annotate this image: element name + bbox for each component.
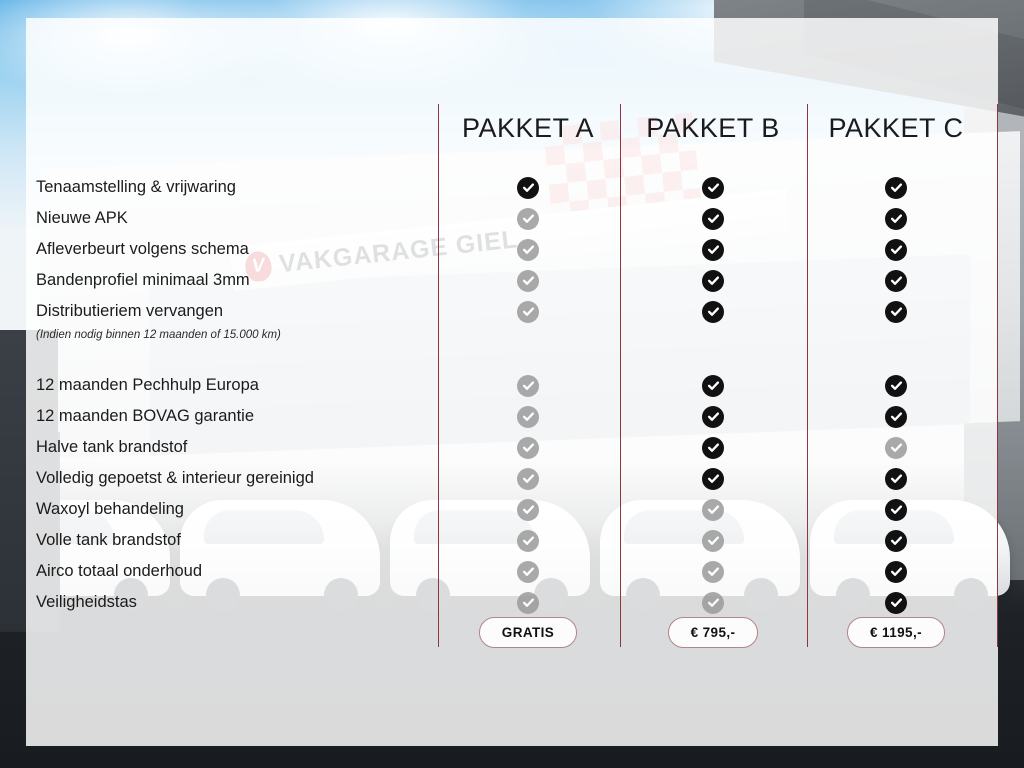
check-cell	[803, 432, 989, 463]
check-cell	[620, 265, 806, 296]
check-included-icon	[885, 208, 907, 230]
check-cell	[435, 587, 621, 618]
check-cell	[803, 234, 989, 265]
check-cell	[435, 370, 621, 401]
check-cell	[803, 494, 989, 525]
feature-group-gap	[36, 343, 436, 370]
check-cell	[620, 587, 806, 618]
check-included-icon	[517, 177, 539, 199]
check-cell	[435, 525, 621, 556]
check-cell	[435, 203, 621, 234]
feature-label: Afleverbeurt volgens schema	[36, 234, 436, 265]
feature-label: 12 maanden BOVAG garantie	[36, 401, 436, 432]
check-cell	[803, 265, 989, 296]
check-cell	[803, 401, 989, 432]
check-included-icon	[702, 406, 724, 428]
check-cell	[435, 463, 621, 494]
feature-label: Veiligheidstas	[36, 587, 436, 618]
check-cell	[435, 234, 621, 265]
check-included-icon	[702, 301, 724, 323]
check-cell	[620, 525, 806, 556]
check-cell	[620, 432, 806, 463]
check-column-c	[803, 172, 989, 618]
price-cell-a: GRATIS	[435, 617, 621, 648]
check-cell	[435, 296, 621, 327]
price-badge-a[interactable]: GRATIS	[479, 617, 577, 648]
check-excluded-icon	[702, 499, 724, 521]
check-included-icon	[885, 301, 907, 323]
check-excluded-icon	[517, 468, 539, 490]
check-included-icon	[702, 270, 724, 292]
check-cell	[803, 525, 989, 556]
feature-label: Distributieriem vervangen	[36, 296, 436, 327]
feature-label: Bandenprofiel minimaal 3mm	[36, 265, 436, 296]
check-included-icon	[885, 530, 907, 552]
feature-label: Waxoyl behandeling	[36, 494, 436, 525]
check-excluded-icon	[517, 406, 539, 428]
check-cell	[803, 296, 989, 327]
price-cell-b: € 795,-	[620, 617, 806, 648]
feature-label: Volle tank brandstof	[36, 525, 436, 556]
check-cell	[620, 463, 806, 494]
check-included-icon	[885, 270, 907, 292]
check-group-gap	[620, 343, 806, 370]
check-cell	[803, 172, 989, 203]
check-cell	[803, 463, 989, 494]
check-included-icon	[702, 437, 724, 459]
check-included-icon	[885, 239, 907, 261]
check-cell	[620, 234, 806, 265]
check-cell	[435, 265, 621, 296]
check-cell	[803, 203, 989, 234]
column-divider-3	[997, 104, 998, 647]
check-included-icon	[702, 375, 724, 397]
check-excluded-icon	[885, 437, 907, 459]
check-excluded-icon	[702, 530, 724, 552]
check-included-icon	[885, 468, 907, 490]
package-header-b: PAKKET B	[620, 113, 806, 144]
check-cell	[435, 494, 621, 525]
feature-label: Nieuwe APK	[36, 203, 436, 234]
package-header-a: PAKKET A	[435, 113, 621, 144]
feature-label: Halve tank brandstof	[36, 432, 436, 463]
check-included-icon	[885, 375, 907, 397]
check-excluded-icon	[517, 561, 539, 583]
check-excluded-icon	[517, 375, 539, 397]
check-excluded-icon	[517, 530, 539, 552]
check-cell	[620, 401, 806, 432]
feature-label: Airco totaal onderhoud	[36, 556, 436, 587]
check-column-a	[435, 172, 621, 618]
check-included-icon	[885, 499, 907, 521]
check-excluded-icon	[517, 499, 539, 521]
check-cell	[803, 587, 989, 618]
check-cell	[435, 556, 621, 587]
check-excluded-icon	[702, 561, 724, 583]
feature-label-list: Tenaamstelling & vrijwaringNieuwe APKAfl…	[36, 172, 436, 618]
check-excluded-icon	[517, 239, 539, 261]
check-included-icon	[885, 406, 907, 428]
check-group-gap	[435, 343, 621, 370]
check-excluded-icon	[517, 592, 539, 614]
check-cell	[620, 172, 806, 203]
check-cell	[620, 494, 806, 525]
feature-label: Tenaamstelling & vrijwaring	[36, 172, 436, 203]
check-cell	[435, 172, 621, 203]
check-cell	[803, 556, 989, 587]
price-cell-c: € 1195,-	[803, 617, 989, 648]
check-cell	[620, 370, 806, 401]
check-included-icon	[702, 177, 724, 199]
check-group-gap	[803, 343, 989, 370]
check-included-icon	[702, 208, 724, 230]
price-badge-b[interactable]: € 795,-	[668, 617, 759, 648]
check-note-spacer	[620, 327, 806, 343]
package-header-c: PAKKET C	[803, 113, 989, 144]
feature-label: 12 maanden Pechhulp Europa	[36, 370, 436, 401]
check-included-icon	[702, 468, 724, 490]
check-included-icon	[885, 561, 907, 583]
check-included-icon	[702, 239, 724, 261]
check-cell	[620, 556, 806, 587]
check-note-spacer	[803, 327, 989, 343]
check-cell	[803, 370, 989, 401]
feature-note: (Indien nodig binnen 12 maanden of 15.00…	[36, 327, 436, 343]
check-column-b	[620, 172, 806, 618]
price-badge-c[interactable]: € 1195,-	[847, 617, 945, 648]
slide-canvas: V VAKGARAGE GIEL PAKKET APAKKET BPAKKET …	[0, 0, 1024, 768]
check-cell	[435, 432, 621, 463]
check-excluded-icon	[517, 437, 539, 459]
feature-label: Volledig gepoetst & interieur gereinigd	[36, 463, 436, 494]
package-comparison-table: PAKKET APAKKET BPAKKET C Tenaamstelling …	[0, 0, 1024, 768]
check-cell	[435, 401, 621, 432]
check-included-icon	[885, 177, 907, 199]
check-included-icon	[885, 592, 907, 614]
check-excluded-icon	[702, 592, 724, 614]
check-excluded-icon	[517, 301, 539, 323]
check-cell	[620, 203, 806, 234]
check-excluded-icon	[517, 208, 539, 230]
check-note-spacer	[435, 327, 621, 343]
check-cell	[620, 296, 806, 327]
check-excluded-icon	[517, 270, 539, 292]
